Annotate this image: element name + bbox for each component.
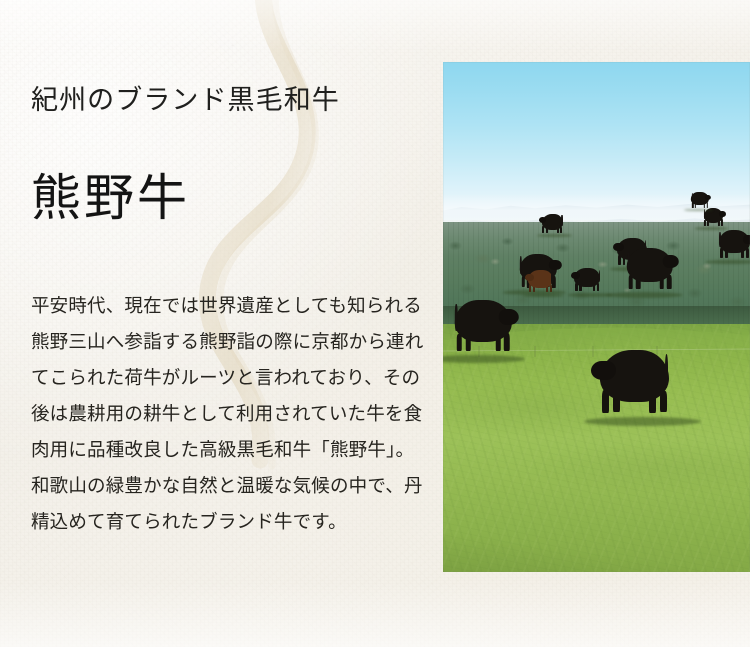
cow-head xyxy=(549,260,562,270)
cow-black xyxy=(447,300,519,363)
cow-black xyxy=(689,192,711,211)
cow-tail xyxy=(551,272,552,284)
description-line: 精込めて育てられたブランド牛です。 xyxy=(31,504,431,540)
description-line: 熊野三山へ参詣する熊野詣の際に京都から連れ xyxy=(31,324,431,360)
cow-shadow xyxy=(568,293,612,296)
cow-leg xyxy=(550,285,552,293)
cow-black xyxy=(715,230,750,264)
cow-head xyxy=(525,274,534,281)
cow-black xyxy=(539,214,566,237)
pasture-cattle-photo xyxy=(443,62,750,572)
cow-head xyxy=(705,195,711,200)
description-line: 和歌山の緑豊かな自然と温暖な気候の中で、丹 xyxy=(31,468,431,504)
cow-shadow xyxy=(443,355,524,362)
description-line: 平安時代、現在では世界遺産としても知られる xyxy=(31,288,431,324)
cow-tail xyxy=(719,232,721,247)
cow-head xyxy=(743,235,750,244)
cow-head xyxy=(591,361,616,380)
cow-black xyxy=(701,208,726,230)
cow-head xyxy=(499,309,519,325)
description-line: てこられた荷牛がルーツと言われており、その xyxy=(31,360,431,396)
cow-head xyxy=(719,211,726,216)
description-paragraph: 平安時代、現在では世界遺産としても知られる 熊野三山へ参詣する熊野詣の際に京都か… xyxy=(31,288,431,540)
cow-black xyxy=(621,248,679,298)
cow-shadow xyxy=(683,209,712,211)
cow-brown xyxy=(525,270,556,297)
kumano-beef-intro-section: 紀州のブランド黒毛和牛 熊野牛 平安時代、現在では世界遺産としても知られる 熊野… xyxy=(0,0,750,647)
cow-tail xyxy=(599,270,600,283)
description-line: 後は農耕用の耕牛として利用されていた牛を食 xyxy=(31,396,431,432)
page-title: 熊野牛 xyxy=(31,168,190,229)
cow-black xyxy=(571,268,604,297)
section-subtitle: 紀州のブランド黒毛和牛 xyxy=(31,84,340,118)
cow-tail xyxy=(561,215,562,225)
cow-shadow xyxy=(705,260,750,264)
description-line: 肉用に品種改良した高級黒毛和牛「熊野牛」。 xyxy=(31,432,431,468)
cow-black xyxy=(591,350,678,426)
cow-head xyxy=(662,255,678,268)
cow-leg xyxy=(597,283,599,291)
